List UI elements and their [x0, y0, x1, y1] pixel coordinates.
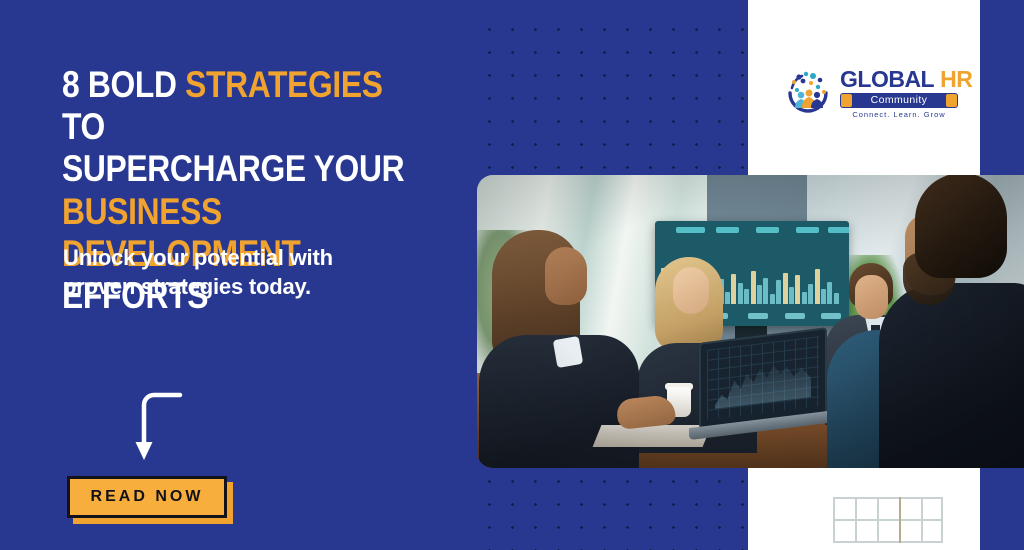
- headline-line-2: SUPERCHARGE YOUR BUSINESS: [62, 148, 423, 232]
- logo-community-bar: Community: [840, 93, 958, 108]
- logo-text-block: GLOBAL HR Community Connect. Learn. Grow: [840, 68, 960, 119]
- global-hr-community-logo: GLOBAL HR Community Connect. Learn. Grow: [783, 62, 963, 124]
- headline-line-1: 8 BOLD STRATEGIES TO: [62, 64, 423, 148]
- read-now-label: READ NOW: [91, 488, 204, 506]
- curved-arrow-icon: [130, 390, 190, 465]
- logo-global-text: GLOBAL: [840, 68, 934, 91]
- read-now-button[interactable]: READ NOW: [67, 476, 227, 518]
- headline-l2-accent: BUSINESS: [62, 191, 222, 232]
- logo-emblem-icon: [783, 68, 833, 118]
- logo-hr-text: HR: [940, 68, 972, 91]
- subtitle-line-2: proven strategies today.: [63, 272, 443, 301]
- grid-decoration: [833, 497, 943, 543]
- dot-pattern-bottom-icon: [478, 470, 758, 550]
- subtitle-line-1: Unlock your potential with: [63, 243, 443, 272]
- logo-community-text: Community: [871, 94, 928, 106]
- headline-l2-a: SUPERCHARGE YOUR: [62, 148, 404, 189]
- subtitle: Unlock your potential with proven strate…: [63, 243, 443, 302]
- headline-l1-a: 8 BOLD: [62, 64, 185, 105]
- meeting-photo: [477, 175, 1024, 468]
- headline-l1-b: TO: [62, 106, 105, 147]
- promo-banner: GLOBAL HR Community Connect. Learn. Grow: [0, 0, 1024, 550]
- logo-tagline: Connect. Learn. Grow: [840, 110, 958, 119]
- dot-pattern-top-icon: [478, 18, 758, 178]
- headline-l1-accent: STRATEGIES: [185, 64, 383, 105]
